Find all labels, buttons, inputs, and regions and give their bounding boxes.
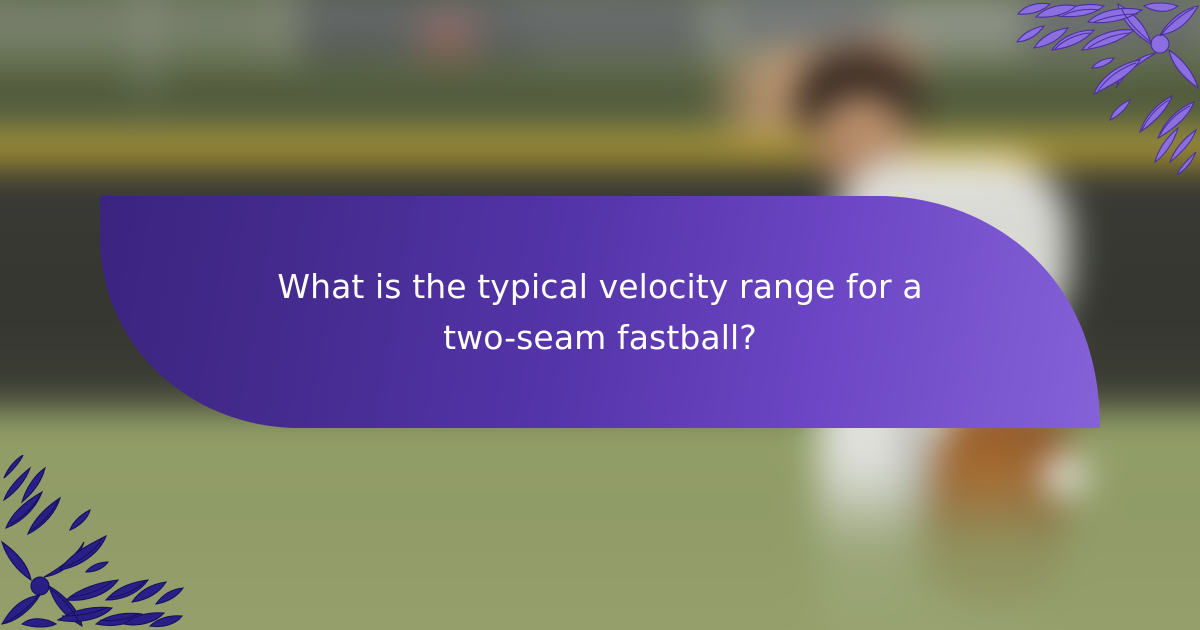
question-banner: What is the typical velocity range for a… xyxy=(100,196,1100,428)
question-title: What is the typical velocity range for a… xyxy=(255,261,945,363)
background-fence-post xyxy=(274,0,288,66)
background-fence-post xyxy=(140,0,154,98)
question-card: What is the typical velocity range for a… xyxy=(0,0,1200,630)
background-foreground-grass xyxy=(0,469,1200,630)
